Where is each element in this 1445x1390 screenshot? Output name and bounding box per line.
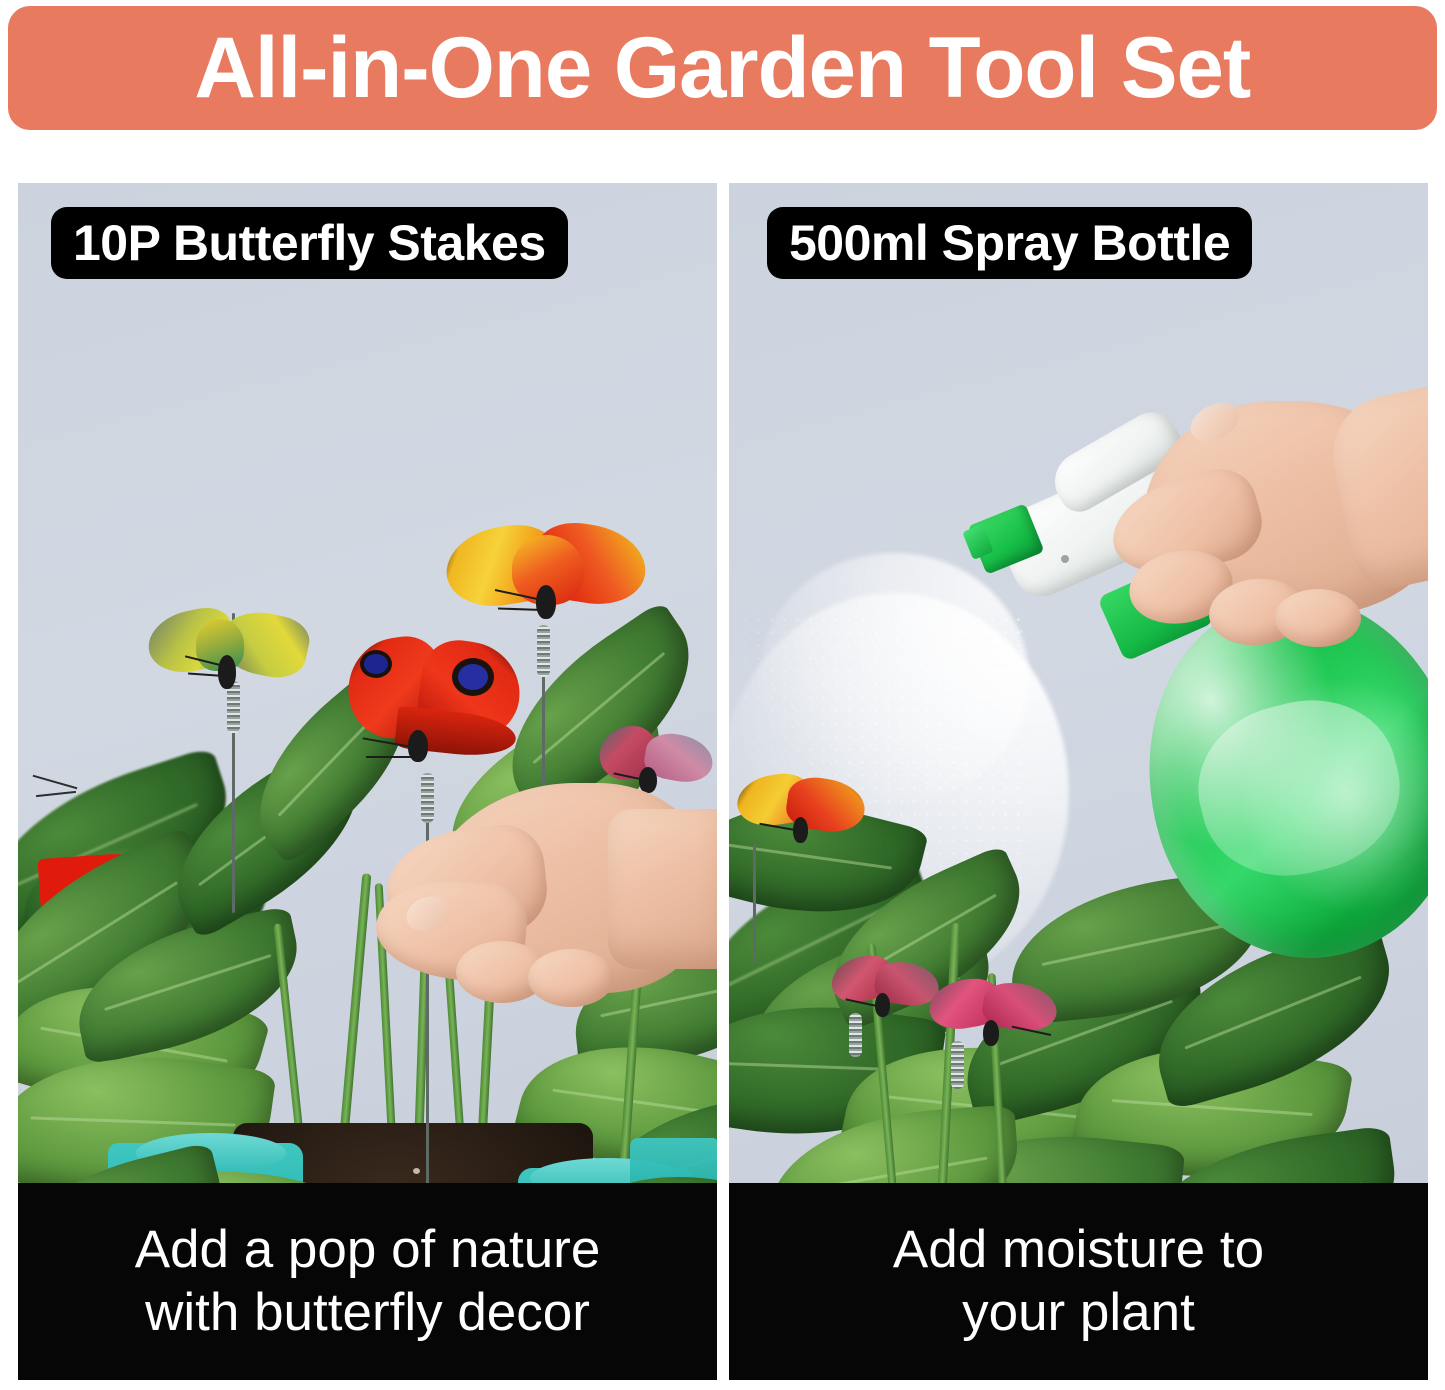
badge-butterfly-stakes: 10P Butterfly Stakes (51, 207, 568, 279)
butterfly-stake-wire (36, 791, 76, 797)
butterfly-body (218, 655, 236, 689)
caption-line-1: Add a pop of nature (135, 1219, 601, 1282)
green-yellow-butterfly (148, 603, 308, 713)
product-feature-panels: 10P Butterfly Stakes Add a pop of nature… (18, 183, 1428, 1380)
photo-spray-bottle (729, 183, 1428, 1183)
page-title: All-in-One Garden Tool Set (195, 25, 1251, 111)
hand-knuckle (1275, 589, 1361, 647)
badge-label: 500ml Spray Bottle (789, 218, 1230, 268)
panel-butterfly-stakes: 10P Butterfly Stakes Add a pop of nature… (18, 183, 717, 1380)
pink-butterfly-right (929, 978, 1059, 1064)
orange-yellow-red-butterfly (446, 523, 646, 648)
spray-mist-secondary (759, 553, 1029, 803)
butterfly-stake-wire (753, 843, 756, 963)
hand (1059, 383, 1428, 713)
badge-spray-bottle: 500ml Spray Bottle (767, 207, 1252, 279)
butterfly-antenna (366, 756, 412, 758)
caption-spray-bottle: Add moisture to your plant (729, 1183, 1428, 1380)
butterfly-body (793, 817, 808, 843)
soil-perlite (413, 1168, 420, 1174)
caption-line-1: Add moisture to (893, 1219, 1264, 1282)
caption-line-2: your plant (962, 1282, 1195, 1345)
caption-line-2: with butterfly decor (145, 1282, 590, 1345)
orange-red-butterfly (737, 773, 867, 865)
butterfly-body (875, 993, 890, 1017)
panel-spray-bottle: 500ml Spray Bottle Add moisture to your … (729, 183, 1428, 1380)
butterfly-stake-coil (951, 1041, 964, 1089)
badge-label: 10P Butterfly Stakes (73, 218, 546, 268)
photo-butterfly-stakes (18, 183, 717, 1183)
pink-butterfly-left (829, 953, 944, 1035)
wrist (608, 809, 717, 969)
butterfly-eyespot (458, 664, 488, 690)
butterfly-stake-coil (849, 1013, 862, 1057)
red-peacock-butterfly (348, 638, 528, 783)
butterfly-body (536, 585, 556, 619)
hand (370, 773, 700, 1073)
hand-knuckle (528, 949, 614, 1007)
butterfly-antenna (498, 607, 542, 611)
butterfly-stake-wire (33, 775, 78, 790)
butterfly-body (983, 1020, 999, 1046)
header-banner: All-in-One Garden Tool Set (8, 6, 1437, 130)
butterfly-eyespot (364, 654, 388, 674)
caption-butterfly-stakes: Add a pop of nature with butterfly decor (18, 1183, 717, 1380)
